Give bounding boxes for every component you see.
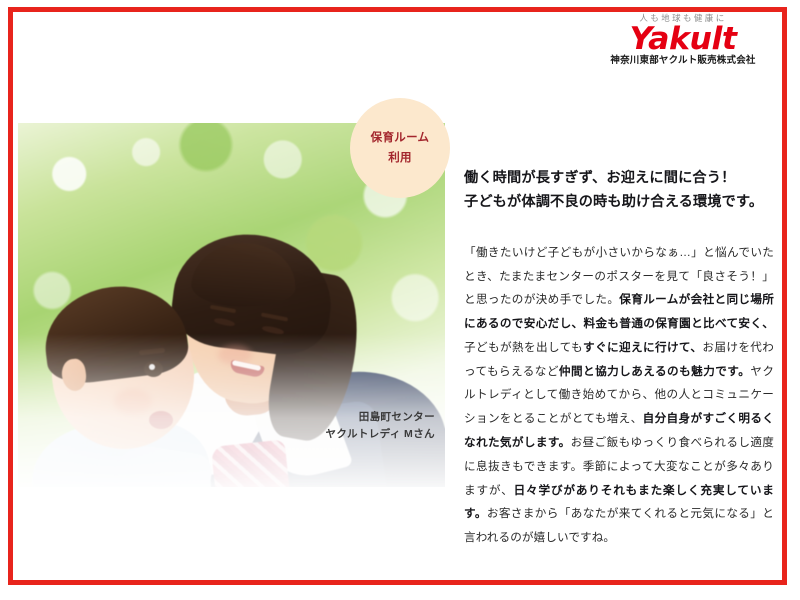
- testimonial-text-column: 働く時間が長すぎず、お迎えに間に合う！ 子どもが体調不良の時も助け合える環境です…: [464, 166, 774, 550]
- caption-center-name: 田島町センター: [250, 409, 435, 426]
- badge-line-1: 保育ルーム: [371, 128, 430, 148]
- body-segment: 料金も普通の保育園と比べて安く、: [584, 317, 774, 330]
- headline-line-1: 働く時間が長すぎず、お迎えに間に合う！: [464, 166, 774, 190]
- headline-line-2: 子どもが体調不良の時も助け合える環境です。: [464, 190, 774, 214]
- yakult-logo: Yakult: [586, 24, 780, 55]
- body-segment: すぐに迎えに行けて、: [583, 341, 702, 354]
- photo-caption: 田島町センター ヤクルトレディ Mさん: [250, 409, 435, 444]
- brand-header: 人も地球も健康に Yakult 神奈川東部ヤクルト販売株式会社: [588, 14, 778, 67]
- testimonial-body: 「働きたいけど子どもが小さいからなぁ…」と悩んでいたとき、たまたまセンターのポス…: [464, 241, 774, 550]
- childcare-room-badge: 保育ルーム 利用: [350, 98, 450, 198]
- body-segment: 仲間と協力しあえるのも魅力です。: [559, 365, 750, 378]
- company-name: 神奈川東部ヤクルト販売株式会社: [588, 56, 778, 66]
- body-segment: 子どもが熱を出しても: [464, 341, 583, 354]
- page-root: 人も地球も健康に Yakult 神奈川東部ヤクルト販売株式会社: [0, 0, 800, 600]
- body-segment: お客さまから「あなたが来てくれると元気になる」と言われるのが嬉しいですね。: [464, 507, 774, 544]
- caption-person-name: ヤクルトレディ Mさん: [250, 426, 435, 443]
- badge-line-2: 利用: [388, 148, 412, 168]
